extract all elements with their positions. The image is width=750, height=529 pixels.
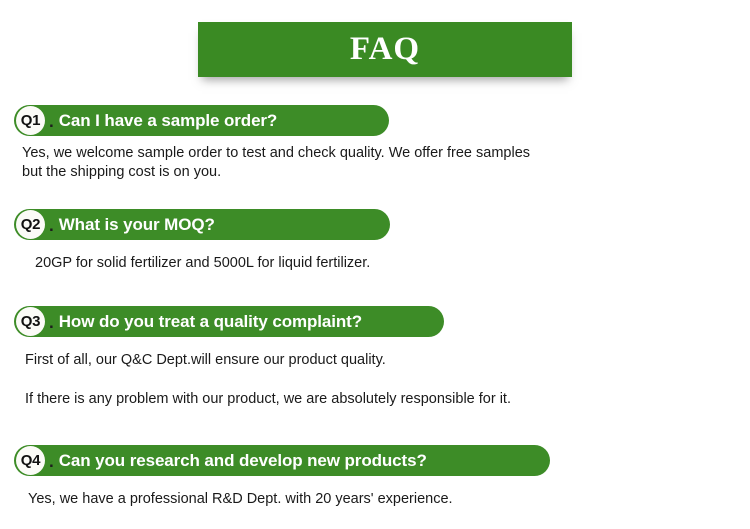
faq-question-text: How do you treat a quality complaint? xyxy=(59,313,362,330)
faq-question-text: Can I have a sample order? xyxy=(59,112,277,129)
faq-answer-line: 20GP for solid fertilizer and 5000L for … xyxy=(35,254,750,273)
faq-header-banner-fill: FAQ xyxy=(198,22,572,77)
faq-item: Q4 . Can you research and develop new pr… xyxy=(0,445,750,509)
faq-item: Q2 . What is your MOQ? 20GP for solid fe… xyxy=(0,209,750,273)
faq-answer-line: but the shipping cost is on you. xyxy=(22,163,750,182)
faq-question-pill[interactable]: Q1 . Can I have a sample order? xyxy=(14,105,389,136)
faq-answer: 20GP for solid fertilizer and 5000L for … xyxy=(35,254,750,273)
faq-badge: Q2 xyxy=(16,210,45,239)
faq-answer-line: Yes, we welcome sample order to test and… xyxy=(22,144,750,163)
faq-answer: First of all, our Q&C Dept.will ensure o… xyxy=(25,351,750,409)
faq-badge-separator: . xyxy=(49,314,54,331)
page-title: FAQ xyxy=(350,33,420,66)
faq-list: Q1 . Can I have a sample order? Yes, we … xyxy=(0,105,750,509)
faq-question-pill[interactable]: Q4 . Can you research and develop new pr… xyxy=(14,445,550,476)
faq-item: Q1 . Can I have a sample order? Yes, we … xyxy=(0,105,750,182)
faq-answer: Yes, we welcome sample order to test and… xyxy=(22,144,750,182)
faq-answer-line: First of all, our Q&C Dept.will ensure o… xyxy=(25,351,750,370)
faq-item: Q3 . How do you treat a quality complain… xyxy=(0,306,750,409)
faq-question-text: Can you research and develop new product… xyxy=(59,452,427,469)
faq-question-pill[interactable]: Q2 . What is your MOQ? xyxy=(14,209,390,240)
faq-badge-separator: . xyxy=(49,217,54,234)
faq-question-pill[interactable]: Q3 . How do you treat a quality complain… xyxy=(14,306,444,337)
faq-badge-separator: . xyxy=(49,113,54,130)
faq-badge: Q3 xyxy=(16,307,45,336)
faq-badge: Q1 xyxy=(16,106,45,135)
faq-badge-separator: . xyxy=(49,453,54,470)
faq-question-text: What is your MOQ? xyxy=(59,216,215,233)
faq-answer: Yes, we have a professional R&D Dept. wi… xyxy=(28,490,750,509)
faq-badge: Q4 xyxy=(16,446,45,475)
faq-header-banner: FAQ xyxy=(198,22,572,77)
faq-answer-line: Yes, we have a professional R&D Dept. wi… xyxy=(28,490,750,509)
faq-answer-line: If there is any problem with our product… xyxy=(25,390,750,409)
